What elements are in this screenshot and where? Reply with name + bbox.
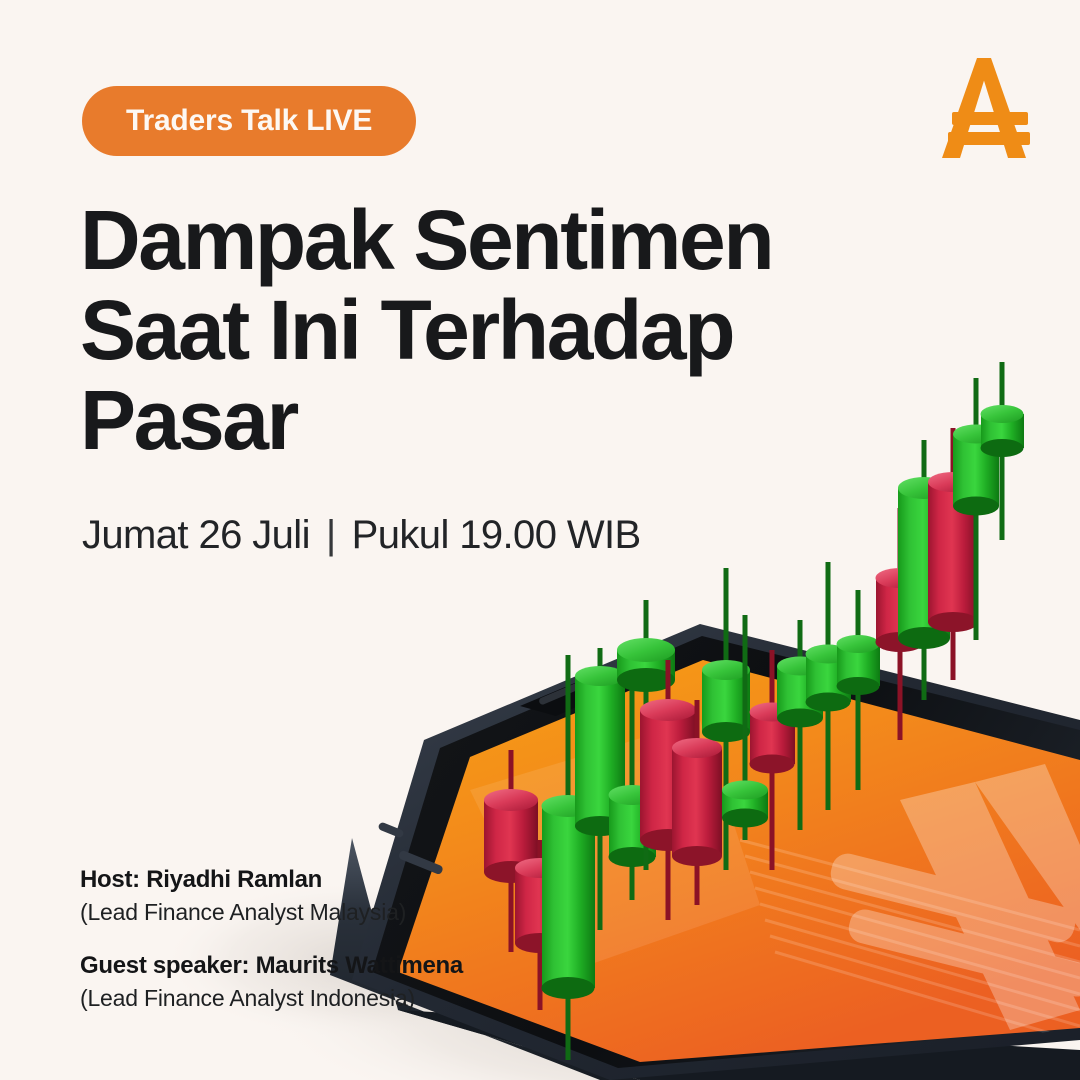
credits: Host: Riyadhi Ramlan (Lead Finance Analy… (80, 866, 463, 1038)
page-title: Dampak Sentimen Saat Ini Terhadap Pasar (80, 196, 840, 466)
guest-credit: Guest speaker: Maurits Wattimena (Lead F… (80, 952, 463, 1012)
traders-talk-live-badge[interactable]: Traders Talk LIVE (82, 86, 416, 156)
guest-role: (Lead Finance Analyst Indonesia) (80, 985, 463, 1012)
guest-name: Guest speaker: Maurits Wattimena (80, 952, 463, 980)
schedule-separator: | (326, 513, 336, 558)
schedule-line: Jumat 26 Juli | Pukul 19.00 WIB (82, 513, 641, 558)
headline-line-2: Saat Ini Terhadap (80, 286, 840, 376)
schedule-date: Jumat 26 Juli (82, 513, 310, 558)
host-credit: Host: Riyadhi Ramlan (Lead Finance Analy… (80, 866, 463, 926)
brand-logo-icon (930, 52, 1038, 164)
headline-line-3: Pasar (80, 376, 840, 466)
host-role: (Lead Finance Analyst Malaysia) (80, 899, 463, 926)
host-name: Host: Riyadhi Ramlan (80, 866, 463, 894)
headline-line-1: Dampak Sentimen (80, 196, 840, 286)
schedule-time: Pukul 19.00 WIB (352, 513, 641, 558)
badge-label: Traders Talk LIVE (126, 104, 372, 138)
